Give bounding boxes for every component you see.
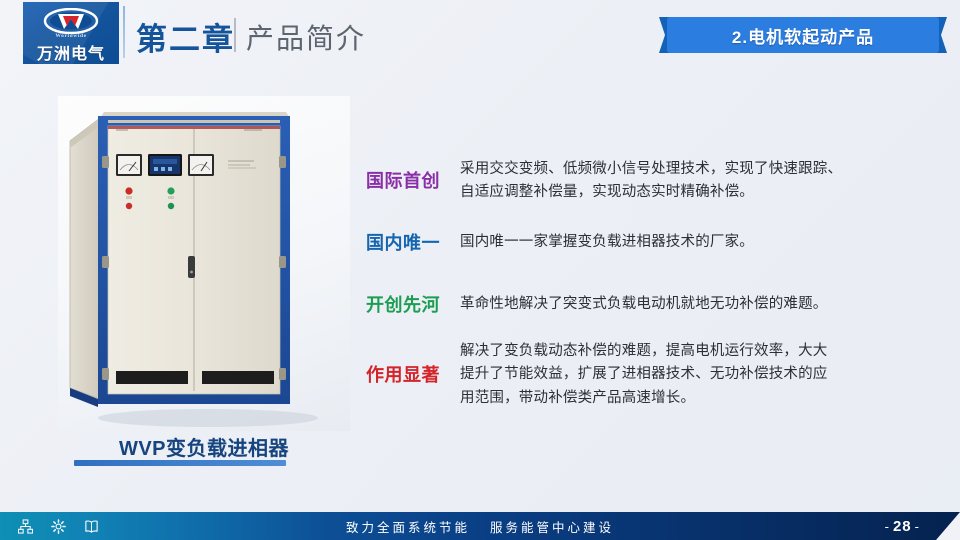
page-prefix: -	[885, 519, 890, 534]
logo-chinese-text: 万洲电气	[23, 40, 119, 64]
indicator-lamp-red	[126, 203, 132, 209]
section-ribbon: 2.电机软起动产品	[659, 17, 947, 53]
digital-display	[148, 154, 182, 176]
page-title: 产品简介	[246, 17, 366, 57]
feature-text-line: 国内唯一一家掌握变负载进相器技术的厂家。	[460, 231, 936, 254]
feature-label: 作用显著	[366, 364, 460, 387]
page-suffix: -	[915, 519, 920, 534]
cabinet-illustration	[58, 96, 350, 431]
feature-label: 开创先河	[366, 294, 460, 317]
logo-divider	[123, 6, 125, 58]
feature-text-line: 提升了节能效益，扩展了进相器技术、无功补偿技术的应	[460, 363, 936, 386]
indicator-lamp-green	[167, 187, 174, 194]
footer-slogan-left: 致力全面系统节能	[346, 517, 470, 536]
chapter-label: 第二章	[136, 14, 235, 59]
slide-canvas: Worldwide 万洲电气 第二章 产品简介 2.电机软起动产品	[0, 0, 960, 540]
page-number: 28	[893, 518, 912, 535]
feature-text-line: 用范围，带动补偿类产品高速增长。	[460, 387, 936, 410]
feature-text-line: 自适应调整补偿量，实现动态实时精确补偿。	[460, 181, 936, 204]
indicator-lamp-green	[168, 203, 174, 209]
indicator-lamp-red	[125, 187, 132, 194]
product-photo	[58, 96, 350, 431]
feature-label: 国内唯一	[366, 232, 460, 255]
company-logo: Worldwide 万洲电气	[23, 2, 119, 64]
feature-item: 作用显著 解决了变负载动态补偿的难题，提高电机运行效率，大大 提升了节能效益，扩…	[366, 336, 936, 414]
analog-meter-right	[188, 154, 214, 176]
feature-text-line: 革命性地解决了突变式负载电动机就地无功补偿的难题。	[460, 293, 936, 316]
feature-item: 国内唯一 国内唯一一家掌握变负载进相器技术的厂家。	[366, 212, 936, 274]
feature-text-line: 采用交交变频、低频微小信号处理技术，实现了快速跟踪、	[460, 158, 936, 181]
shield-w-emblem-icon	[43, 8, 99, 34]
footer-slogan-right: 服务能管中心建设	[490, 517, 614, 536]
feature-text-line: 解决了变负载动态补偿的难题，提高电机运行效率，大大	[460, 340, 936, 363]
feature-item: 国际首创 采用交交变频、低频微小信号处理技术，实现了快速跟踪、 自适应调整补偿量…	[366, 150, 936, 212]
page-number-indicator: - 28 -	[885, 512, 920, 540]
product-caption: WVP变负载进相器	[58, 432, 350, 461]
feature-text: 采用交交变频、低频微小信号处理技术，实现了快速跟踪、 自适应调整补偿量，实现动态…	[460, 158, 936, 205]
feature-label: 国际首创	[366, 170, 460, 193]
logo-latin-text: Worldwide	[23, 33, 119, 39]
feature-text: 解决了变负载动态补偿的难题，提高电机运行效率，大大 提升了节能效益，扩展了进相器…	[460, 340, 936, 410]
feature-list: 国际首创 采用交交变频、低频微小信号处理技术，实现了快速跟踪、 自适应调整补偿量…	[366, 150, 936, 414]
analog-meter-left	[116, 154, 142, 176]
feature-text: 革命性地解决了突变式负载电动机就地无功补偿的难题。	[460, 293, 936, 316]
feature-item: 开创先河 革命性地解决了突变式负载电动机就地无功补偿的难题。	[366, 274, 936, 336]
ribbon-body: 2.电机软起动产品	[667, 17, 939, 53]
feature-text: 国内唯一一家掌握变负载进相器技术的厂家。	[460, 231, 936, 254]
footer-bar: 致力全面系统节能 服务能管中心建设 - 28 -	[0, 512, 960, 540]
footer-slogan: 致力全面系统节能 服务能管中心建设	[0, 512, 960, 540]
ribbon-label: 2.电机软起动产品	[732, 23, 874, 48]
product-caption-underline	[74, 460, 286, 466]
title-separator	[234, 18, 236, 52]
